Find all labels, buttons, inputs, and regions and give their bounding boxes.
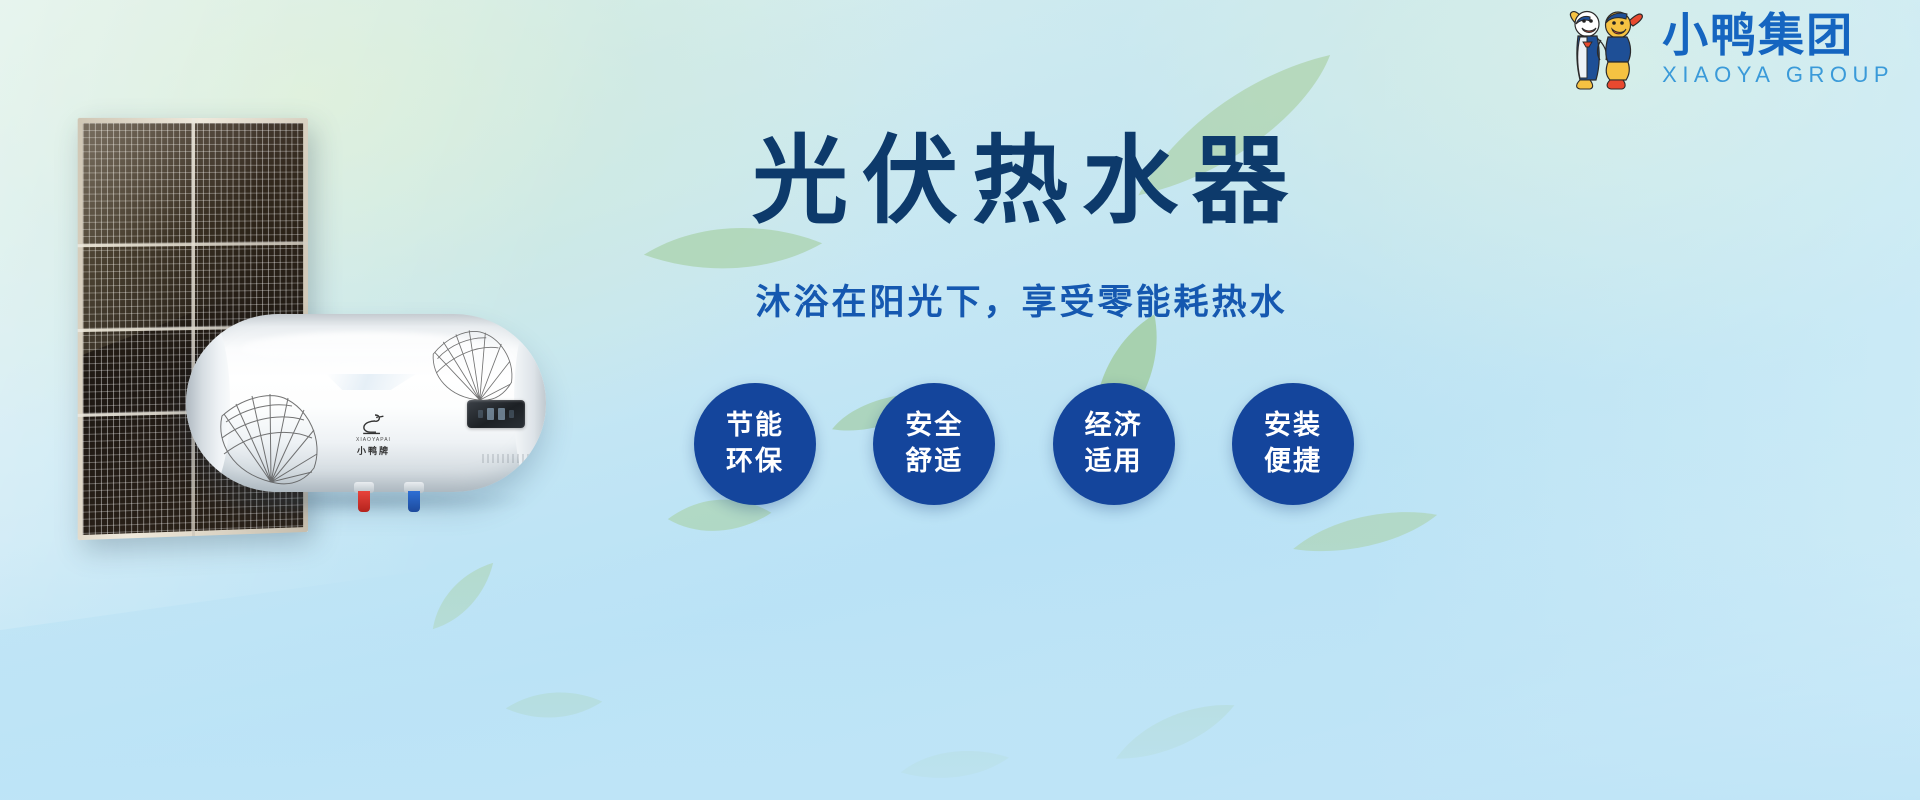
tank-sheen <box>326 374 416 390</box>
display-segment <box>498 408 505 420</box>
logo-wordmark: 小鸭集团 XIAOYA GROUP <box>1662 12 1894 86</box>
display-segment <box>509 410 514 418</box>
tank-body: XIAOYAPAI 小鸭牌 <box>186 314 546 492</box>
tank-highlight <box>240 332 490 366</box>
badge-safe-comfort[interactable]: 安全 舒适 <box>873 383 995 505</box>
badge-line-2: 舒适 <box>905 444 963 480</box>
hot-water-pipe <box>354 482 374 512</box>
leaf-icon <box>502 673 605 737</box>
display-segment <box>487 408 494 420</box>
leaf-icon <box>415 558 511 633</box>
heater-brand-en: XIAOYAPAI <box>356 437 391 443</box>
copy-block: 光伏热水器 沐浴在阳光下，享受零能耗热水 <box>700 128 1340 325</box>
heater-brand-cn: 小鸭牌 <box>357 444 390 457</box>
badge-line-1: 安装 <box>1264 408 1322 444</box>
pipe-stem <box>358 491 370 512</box>
logo-company-en: XIAOYA GROUP <box>1662 64 1894 86</box>
electric-water-heater-tank: XIAOYAPAI 小鸭牌 <box>186 314 566 509</box>
feature-badge-group: 节能 环保 安全 舒适 经济 适用 安装 便捷 <box>694 374 1354 514</box>
badge-line-1: 经济 <box>1085 408 1143 444</box>
tank-left-end-cap <box>186 314 230 492</box>
badge-line-1: 节能 <box>726 408 784 444</box>
leaf-icon <box>1107 695 1244 767</box>
duck-icon <box>360 412 386 436</box>
pipe-stem <box>408 491 420 512</box>
badge-line-2: 环保 <box>726 444 784 480</box>
page-subtitle: 沐浴在阳光下，享受零能耗热水 <box>700 274 1340 325</box>
bottom-haze-overlay <box>0 540 1920 800</box>
badge-line-1: 安全 <box>905 408 963 444</box>
right-haze-overlay <box>1360 0 1920 800</box>
badge-line-2: 便捷 <box>1264 444 1322 480</box>
page-title: 光伏热水器 <box>700 128 1340 236</box>
display-segment <box>478 410 483 418</box>
digital-temperature-display <box>467 400 525 428</box>
badge-line-2: 适用 <box>1085 444 1143 480</box>
tank-spec-label <box>482 454 544 463</box>
badge-easy-install[interactable]: 安装 便捷 <box>1232 383 1354 505</box>
leaf-icon <box>898 738 1012 789</box>
badge-energy-saving[interactable]: 节能 环保 <box>694 383 816 505</box>
heater-brand-mark: XIAOYAPAI 小鸭牌 <box>356 412 391 457</box>
xiaoya-duck-mascots-icon <box>1556 6 1652 92</box>
badge-economical[interactable]: 经济 适用 <box>1053 383 1175 505</box>
promo-banner: XIAOYAPAI 小鸭牌 光伏热水器 沐浴在阳光下，享受零能耗热水 <box>0 0 1920 800</box>
logo-company-cn: 小鸭集团 <box>1662 12 1854 58</box>
company-logo[interactable]: 小鸭集团 XIAOYA GROUP <box>1556 6 1894 92</box>
cold-water-pipe <box>404 482 424 512</box>
